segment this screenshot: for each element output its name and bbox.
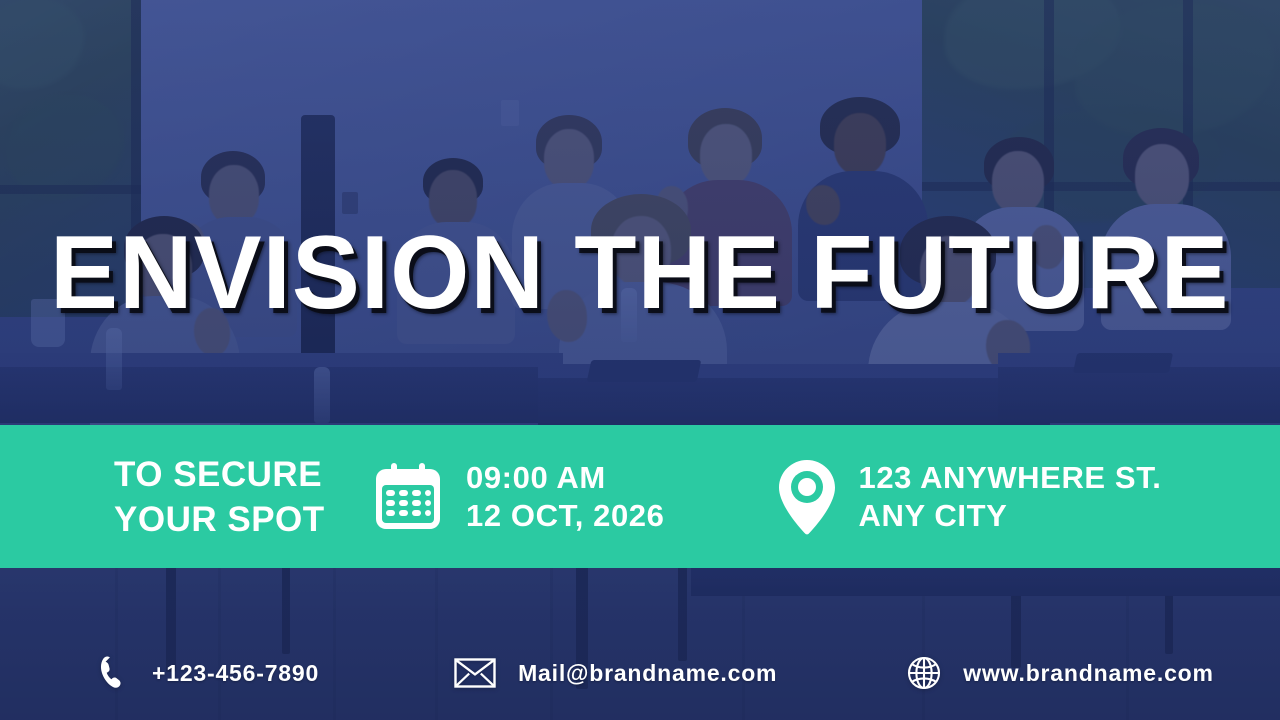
contact-bar: +123-456-7890 Mail@brandname.com: [0, 568, 1280, 720]
event-date: 12 OCT, 2026: [466, 497, 664, 535]
location-street: 123 ANYWHERE ST.: [858, 459, 1161, 497]
calendar-icon: [370, 459, 446, 535]
headline-container: ENVISION THE FUTURE: [0, 214, 1280, 332]
email-address: Mail@brandname.com: [518, 660, 777, 687]
contact-email[interactable]: Mail@brandname.com: [454, 658, 777, 688]
location-pin-icon: [776, 458, 838, 536]
event-datetime: 09:00 AM 12 OCT, 2026: [370, 459, 664, 535]
event-location: 123 ANYWHERE ST. ANY CITY: [776, 458, 1161, 536]
datetime-text: 09:00 AM 12 OCT, 2026: [466, 459, 664, 535]
website-url: www.brandname.com: [963, 660, 1213, 687]
location-text: 123 ANYWHERE ST. ANY CITY: [858, 459, 1161, 535]
event-time: 09:00 AM: [466, 459, 664, 497]
cta-text: TO SECURE YOUR SPOT: [0, 452, 360, 542]
cta-line-1: TO SECURE: [114, 452, 360, 497]
cta-line-2: YOUR SPOT: [114, 497, 360, 542]
globe-icon: [907, 656, 941, 690]
location-city: ANY CITY: [858, 497, 1161, 535]
contact-website[interactable]: www.brandname.com: [907, 656, 1213, 690]
envelope-icon: [454, 658, 496, 688]
contact-phone[interactable]: +123-456-7890: [100, 656, 319, 690]
phone-icon: [100, 656, 130, 690]
event-poster: ENVISION THE FUTURE TO SECURE YOUR SPOT: [0, 0, 1280, 720]
phone-number: +123-456-7890: [152, 660, 319, 687]
page-title: ENVISION THE FUTURE: [50, 221, 1229, 325]
event-info-band: TO SECURE YOUR SPOT: [0, 425, 1280, 568]
